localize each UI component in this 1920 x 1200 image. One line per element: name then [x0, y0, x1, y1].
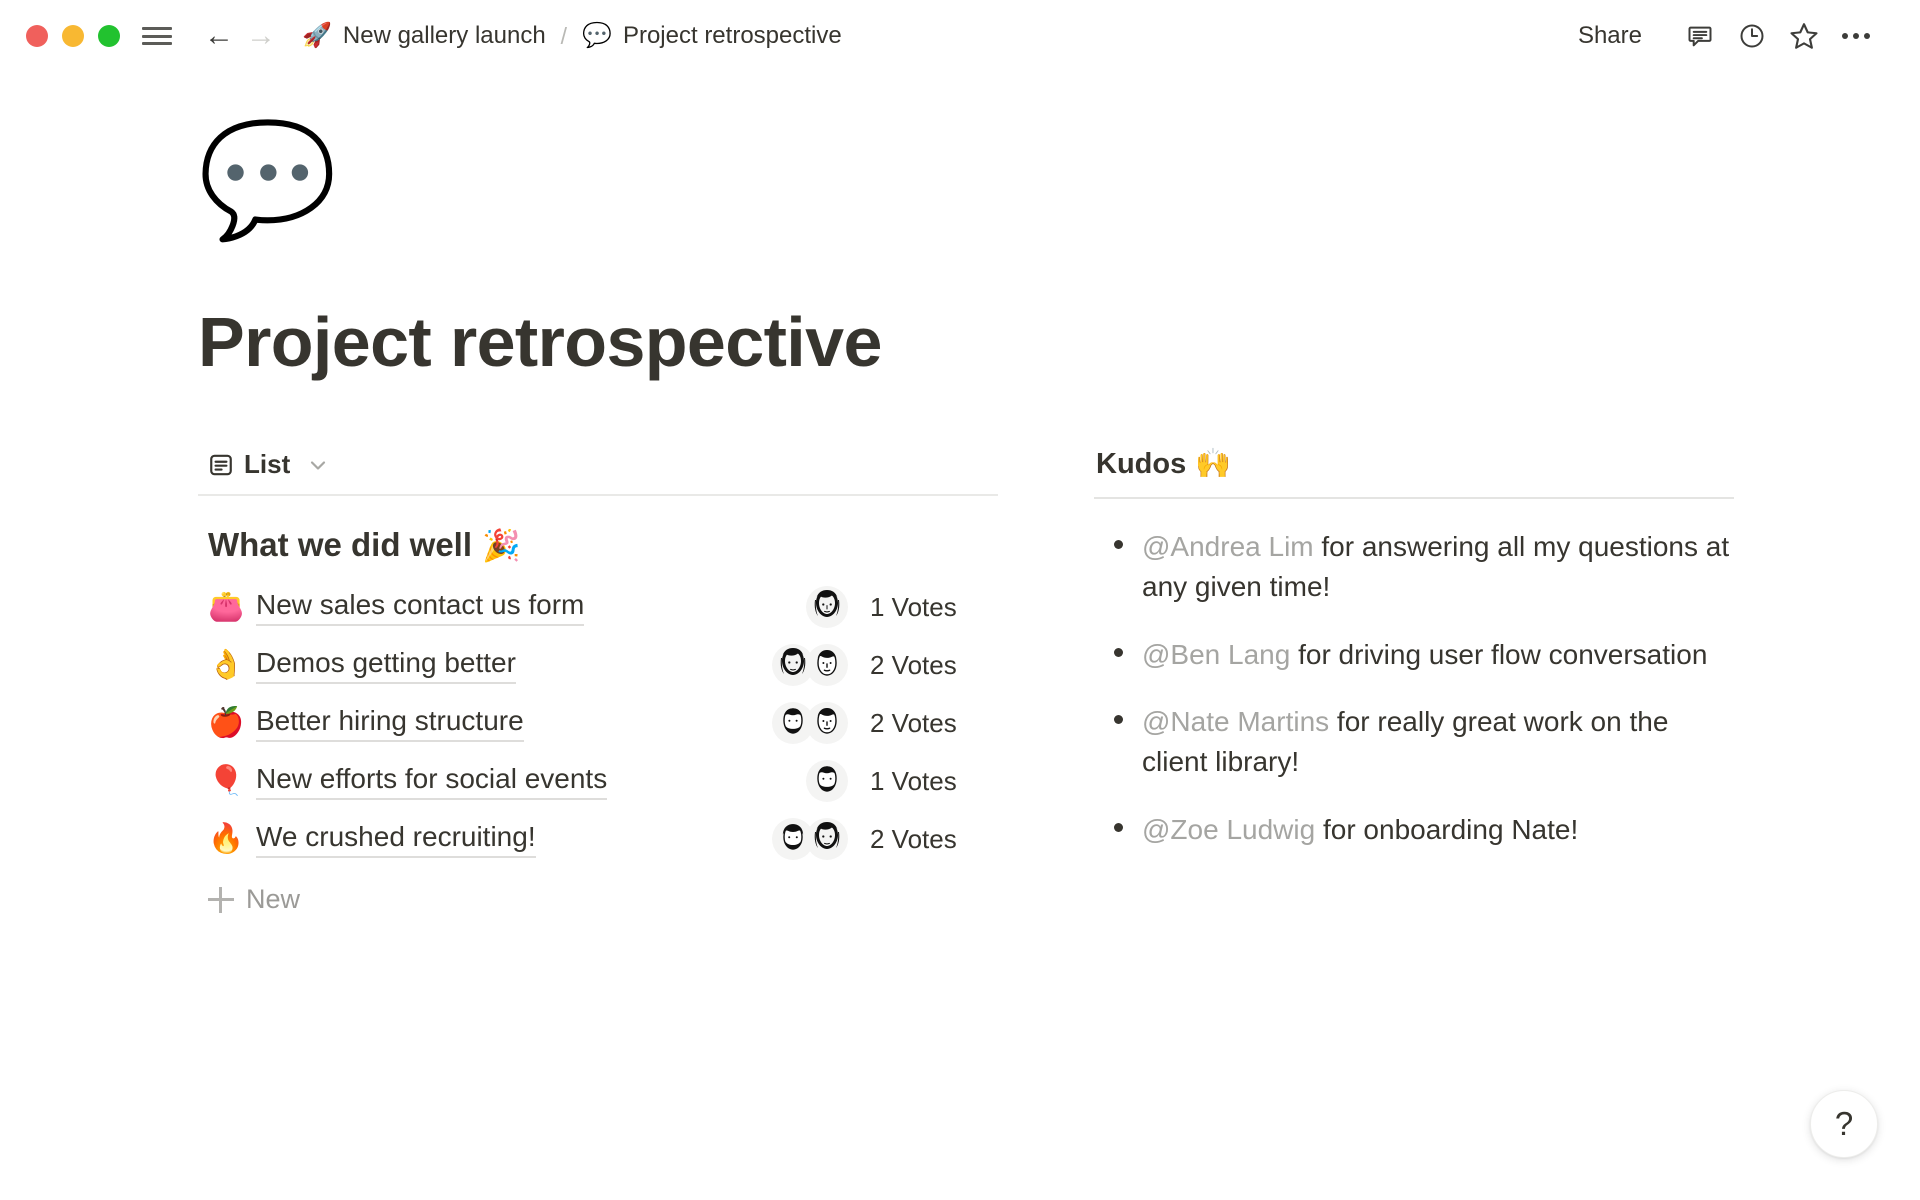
kudos-text: for driving user flow conversation [1290, 639, 1707, 670]
mention-chip[interactable]: @Andrea Lim [1142, 531, 1314, 562]
list-item[interactable]: 👛 New sales contact us form [198, 578, 998, 636]
breadcrumb-item-project-retrospective[interactable]: 💬 Project retrospective [576, 18, 848, 54]
kudos-text: for onboarding Nate! [1315, 814, 1578, 845]
ok-hand-emoji: 👌 [208, 651, 256, 680]
mention-chip[interactable]: @Nate Martins [1142, 706, 1329, 737]
avatar [806, 586, 848, 628]
board-column: List What we did well 🎉 👛 New sales co [198, 447, 998, 925]
avatar [806, 818, 848, 860]
arrow-right-icon[interactable]: → [240, 15, 282, 57]
list-item[interactable]: @Andrea Lim for answering all my questio… [1094, 527, 1734, 635]
bullet-icon [1094, 527, 1142, 549]
avatar [806, 760, 848, 802]
breadcrumb-label: New gallery launch [343, 22, 546, 50]
list-item[interactable]: 👌 Demos getting better [198, 636, 998, 694]
window-titlebar: ← → 🚀 New gallery launch / 💬 Project ret… [0, 0, 1920, 72]
view-selector-label: List [244, 449, 290, 480]
list-item[interactable]: 🔥 We crushed recruiting! [198, 810, 998, 868]
vote-count: 2 Votes [870, 824, 998, 855]
kudos-column: Kudos 🙌 @Andrea Lim for answering all my… [1094, 447, 1734, 878]
view-selector[interactable]: List [198, 447, 998, 494]
party-popper-emoji: 🎉 [482, 527, 521, 564]
close-window-button[interactable] [26, 25, 48, 47]
vote-count: 1 Votes [870, 766, 998, 797]
page-content: 💬 Project retrospective List [0, 72, 1920, 925]
group-heading-label: What we did well [208, 526, 472, 564]
add-new-item-label: New [246, 884, 300, 915]
voter-avatars [740, 818, 848, 860]
page-title[interactable]: Project retrospective [198, 304, 1770, 381]
chevron-down-icon[interactable] [306, 453, 330, 477]
list-item[interactable]: 🍎 Better hiring structure [198, 694, 998, 752]
share-button[interactable]: Share [1564, 16, 1656, 56]
kudos-heading[interactable]: Kudos 🙌 [1094, 447, 1734, 497]
kudos-heading-label: Kudos [1096, 448, 1186, 481]
page-icon-speech-balloon-emoji[interactable]: 💬 [198, 124, 1770, 260]
list-item[interactable]: @Nate Martins for really great work on t… [1094, 702, 1734, 810]
bullet-icon [1094, 702, 1142, 724]
vote-count: 2 Votes [870, 708, 998, 739]
breadcrumb: 🚀 New gallery launch / 💬 Project retrosp… [296, 18, 848, 54]
rocket-emoji: 🚀 [302, 24, 332, 48]
avatar [806, 702, 848, 744]
list-item-title[interactable]: New efforts for social events [256, 763, 607, 800]
content-columns: List What we did well 🎉 👛 New sales co [198, 447, 1770, 925]
raising-hands-emoji: 🙌 [1195, 447, 1231, 481]
bullet-icon [1094, 810, 1142, 832]
speech-balloon-emoji: 💬 [582, 24, 612, 48]
arrow-left-icon[interactable]: ← [198, 15, 240, 57]
list-item-title[interactable]: New sales contact us form [256, 589, 584, 626]
red-apple-emoji: 🍎 [208, 709, 256, 738]
balloon-emoji: 🎈 [208, 767, 256, 796]
favorite-star-icon[interactable] [1778, 10, 1830, 62]
more-options-icon[interactable] [1830, 10, 1882, 62]
mention-chip[interactable]: @Ben Lang [1142, 639, 1290, 670]
breadcrumb-item-new-gallery-launch[interactable]: 🚀 New gallery launch [296, 18, 552, 54]
mention-chip[interactable]: @Zoe Ludwig [1142, 814, 1315, 845]
plus-icon [208, 887, 234, 913]
history-clock-icon[interactable] [1726, 10, 1778, 62]
avatar [806, 644, 848, 686]
list-item-title[interactable]: Better hiring structure [256, 705, 524, 742]
list-item[interactable]: @Zoe Ludwig for onboarding Nate! [1094, 810, 1734, 878]
voter-avatars [740, 760, 848, 802]
maximize-window-button[interactable] [98, 25, 120, 47]
vote-count: 1 Votes [870, 592, 998, 623]
hamburger-icon[interactable] [142, 24, 172, 48]
kudos-list: @Andrea Lim for answering all my questio… [1094, 499, 1734, 878]
voter-avatars [740, 644, 848, 686]
group-heading[interactable]: What we did well 🎉 [198, 496, 998, 578]
comments-icon[interactable] [1674, 10, 1726, 62]
titlebar-actions: Share [1564, 10, 1882, 62]
help-button[interactable]: ? [1810, 1090, 1878, 1158]
fire-emoji: 🔥 [208, 825, 256, 854]
list-item[interactable]: 🎈 New efforts for social events [198, 752, 998, 810]
list-view-icon [208, 452, 234, 478]
add-new-item-button[interactable]: New [198, 868, 998, 925]
bullet-icon [1094, 635, 1142, 657]
breadcrumb-separator: / [561, 23, 567, 50]
vote-count: 2 Votes [870, 650, 998, 681]
minimize-window-button[interactable] [62, 25, 84, 47]
voter-avatars [740, 586, 848, 628]
window-controls [26, 25, 120, 47]
list-item-title[interactable]: We crushed recruiting! [256, 821, 536, 858]
list-item-title[interactable]: Demos getting better [256, 647, 516, 684]
list-item[interactable]: @Ben Lang for driving user flow conversa… [1094, 635, 1734, 703]
purse-emoji: 👛 [208, 593, 256, 622]
breadcrumb-label: Project retrospective [623, 22, 842, 50]
voter-avatars [740, 702, 848, 744]
